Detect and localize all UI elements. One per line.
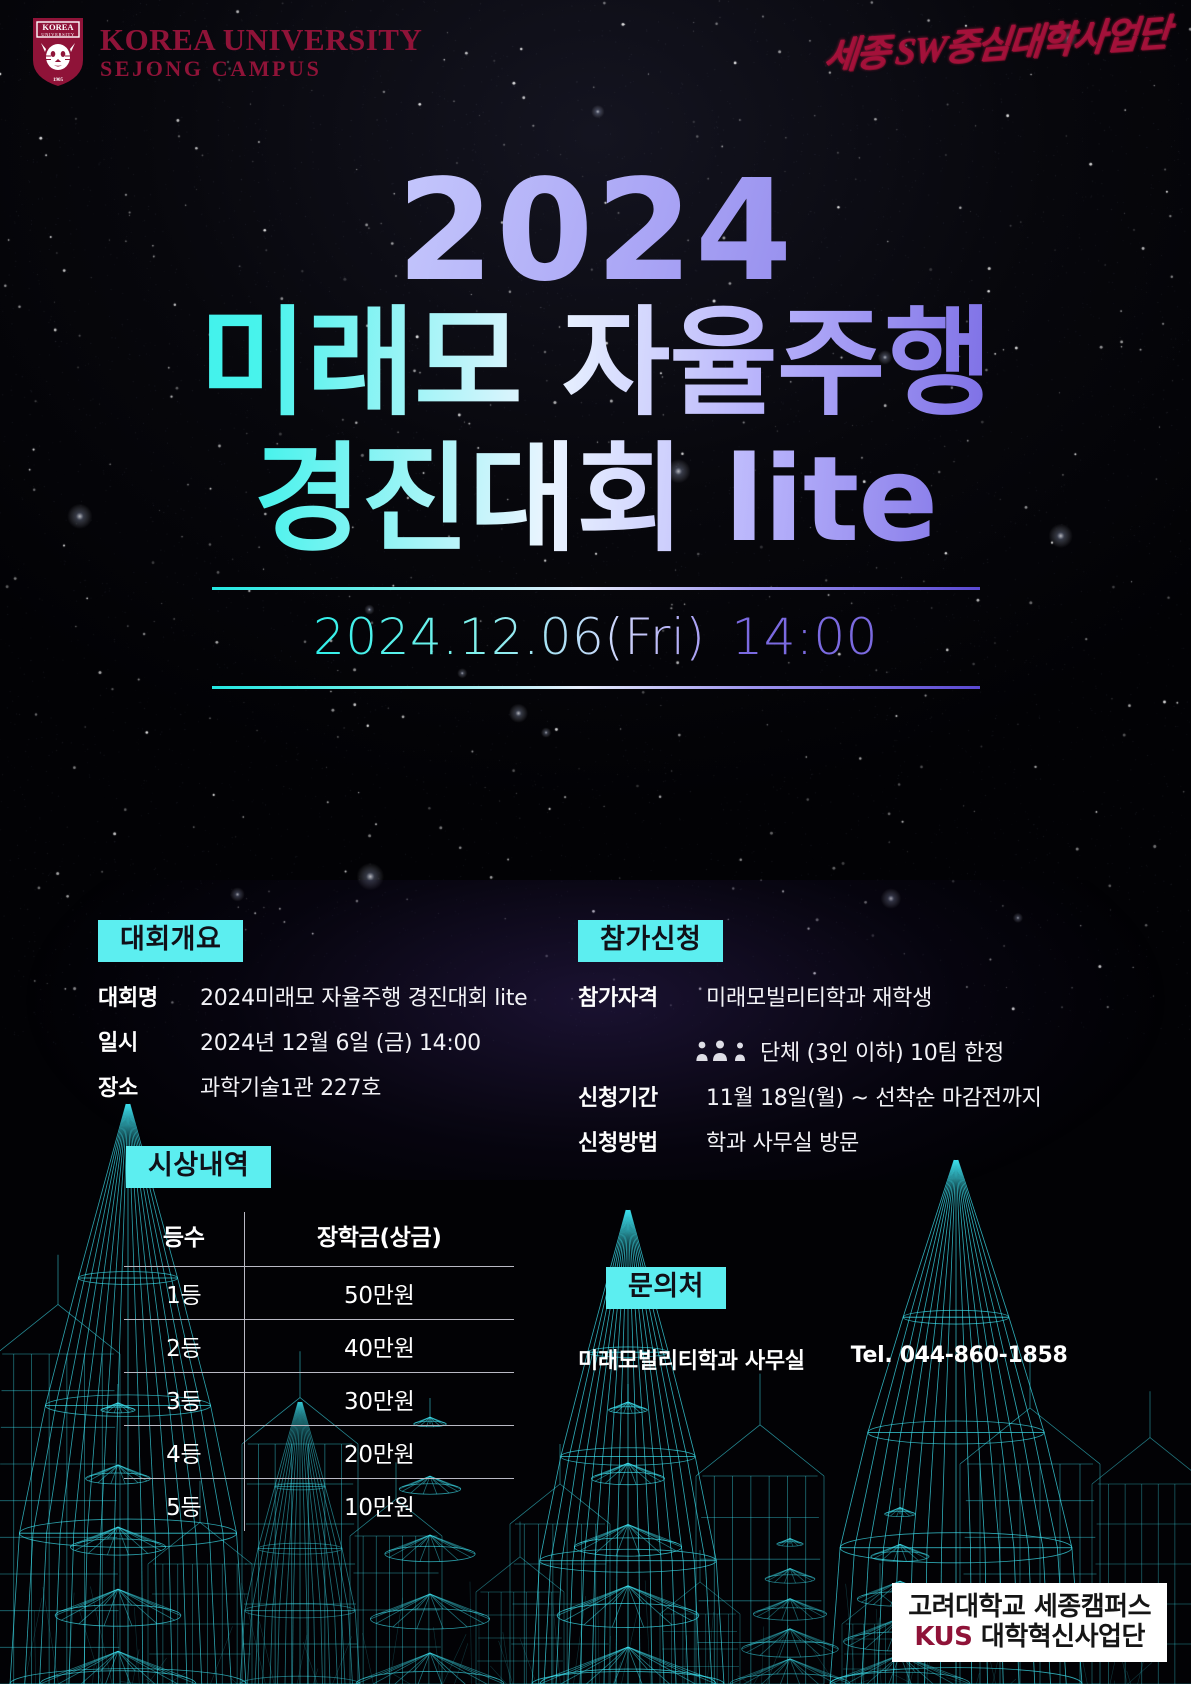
contact-badge: 문의처: [606, 1267, 726, 1309]
svg-text:UNIVERSITY: UNIVERSITY: [41, 32, 75, 37]
table-row: 1등 50만원: [124, 1266, 514, 1319]
prize-rank: 2등: [124, 1319, 244, 1372]
title-year: 2024: [0, 168, 1191, 297]
poster-header: KOREA UNIVERSITY 1905 KOREA UNIVERSITY: [0, 0, 1191, 100]
application-section: 참가신청 참가자격 미래모빌리티학과 재학생: [578, 920, 1078, 1157]
application-value-eligibility: 미래모빌리티학과 재학생: [706, 980, 932, 1012]
overview-badge: 대회개요: [98, 920, 243, 962]
prize-amount: 30만원: [244, 1372, 514, 1425]
kus-innovation-logo: 고려대학교 세종캠퍼스 KUS 대학혁신사업단: [892, 1583, 1167, 1662]
svg-text:1905: 1905: [53, 78, 64, 83]
awards-badge: 시상내역: [126, 1146, 271, 1188]
kus-abbreviation: KUS: [914, 1622, 972, 1652]
svg-text:KOREA: KOREA: [42, 22, 74, 32]
overview-value-name: 2024미래모 자율주행 경진대회 lite: [200, 980, 527, 1012]
divider-bottom: [212, 686, 980, 689]
prize-table: 등수 장학금(상금) 1등 50만원 2등 40만원: [124, 1212, 514, 1531]
application-row-period: 신청기간 11월 18일(월) ~ 선착순 마감전까지: [578, 1080, 1078, 1112]
application-row-eligibility-note: 단체 (3인 이하) 10팀 한정: [578, 1025, 1078, 1067]
table-row: 2등 40만원: [124, 1319, 514, 1372]
overview-key-datetime: 일시: [98, 1025, 184, 1057]
left-column: 대회개요 대회명 2024미래모 자율주행 경진대회 lite 일시 2024년…: [98, 920, 568, 1531]
application-value-period: 11월 18일(월) ~ 선착순 마감전까지: [706, 1080, 1042, 1112]
title-block: 2024 미래모 자율주행 경진대회 lite 2024.12.06(Fri)1…: [0, 168, 1191, 689]
overview-list: 대회명 2024미래모 자율주행 경진대회 lite 일시 2024년 12월 …: [98, 980, 568, 1102]
right-column: 참가신청 참가자격 미래모빌리티학과 재학생: [578, 920, 1078, 1375]
application-key-eligibility: 참가자격: [578, 980, 694, 1012]
prize-amount: 10만원: [244, 1478, 514, 1531]
kus-logo-line2: KUS 대학혁신사업단: [908, 1622, 1151, 1652]
prize-rank: 1등: [124, 1266, 244, 1319]
university-name-line1: KOREA UNIVERSITY: [100, 24, 422, 55]
prize-amount: 20만원: [244, 1425, 514, 1478]
application-value-method: 학과 사무실 방문: [706, 1125, 859, 1157]
overview-value-datetime: 2024년 12월 6일 (금) 14:00: [200, 1025, 481, 1057]
kus-logo-line2-rest: 대학혁신사업단: [972, 1622, 1145, 1652]
application-badge: 참가신청: [578, 920, 723, 962]
application-row-eligibility: 참가자격 미래모빌리티학과 재학생: [578, 980, 1078, 1012]
overview-key-name: 대회명: [98, 980, 184, 1012]
application-key-period: 신청기간: [578, 1080, 694, 1112]
overview-row-venue: 장소 과학기술1관 227호: [98, 1070, 568, 1102]
contact-phone[interactable]: Tel. 044-860-1858: [851, 1343, 1068, 1375]
prize-col-amount: 장학금(상금): [244, 1212, 514, 1267]
title-line-2: 경진대회 lite: [0, 433, 1191, 565]
overview-value-venue: 과학기술1관 227호: [200, 1070, 381, 1102]
group-of-people-icon: [694, 1039, 752, 1063]
prize-table-header-row: 등수 장학금(상금): [124, 1212, 514, 1267]
prize-col-rank: 등수: [124, 1212, 244, 1267]
overview-section: 대회개요 대회명 2024미래모 자율주행 경진대회 lite 일시 2024년…: [98, 920, 568, 1102]
awards-section: 시상내역 등수 장학금(상금) 1등 50만원: [98, 1146, 568, 1531]
korea-university-logo: KOREA UNIVERSITY 1905 KOREA UNIVERSITY: [30, 16, 422, 88]
prize-rank: 5등: [124, 1478, 244, 1531]
event-time: 14:00: [731, 608, 878, 666]
overview-key-venue: 장소: [98, 1070, 184, 1102]
overview-row-datetime: 일시 2024년 12월 6일 (금) 14:00: [98, 1025, 568, 1057]
contact-details: 미래모빌리티학과 사무실 Tel. 044-860-1858: [578, 1343, 1078, 1375]
poster-canvas: KOREA UNIVERSITY 1905 KOREA UNIVERSITY: [0, 0, 1191, 1684]
application-list: 참가자격 미래모빌리티학과 재학생: [578, 980, 1078, 1157]
prize-amount: 50만원: [244, 1266, 514, 1319]
eligibility-note-text: 단체 (3인 이하) 10팀 한정: [760, 1035, 1004, 1067]
table-row: 5등 10만원: [124, 1478, 514, 1531]
prize-amount: 40만원: [244, 1319, 514, 1372]
application-key-method: 신청방법: [578, 1125, 694, 1157]
eligibility-note: 단체 (3인 이하) 10팀 한정: [694, 1035, 1004, 1067]
event-datetime: 2024.12.06(Fri)14:00: [0, 608, 1191, 666]
university-name-line2: SEJONG CAMPUS: [100, 58, 422, 80]
prize-rank: 4등: [124, 1425, 244, 1478]
contact-office: 미래모빌리티학과 사무실: [578, 1343, 805, 1375]
title-line-1: 미래모 자율주행: [0, 297, 1191, 429]
tiger-shield-icon: KOREA UNIVERSITY 1905: [30, 16, 86, 88]
table-row: 3등 30만원: [124, 1372, 514, 1425]
table-row: 4등 20만원: [124, 1425, 514, 1478]
event-date: 2024.12.06(Fri): [313, 608, 705, 666]
sw-program-logo: 세종 SW중심대학사업단: [822, 2, 1171, 81]
application-row-method: 신청방법 학과 사무실 방문: [578, 1125, 1078, 1157]
contact-section: 문의처 미래모빌리티학과 사무실 Tel. 044-860-1858: [578, 1267, 1078, 1375]
kus-logo-line1: 고려대학교 세종캠퍼스: [908, 1592, 1151, 1622]
divider-top: [212, 587, 980, 590]
prize-rank: 3등: [124, 1372, 244, 1425]
overview-row-name: 대회명 2024미래모 자율주행 경진대회 lite: [98, 980, 568, 1012]
